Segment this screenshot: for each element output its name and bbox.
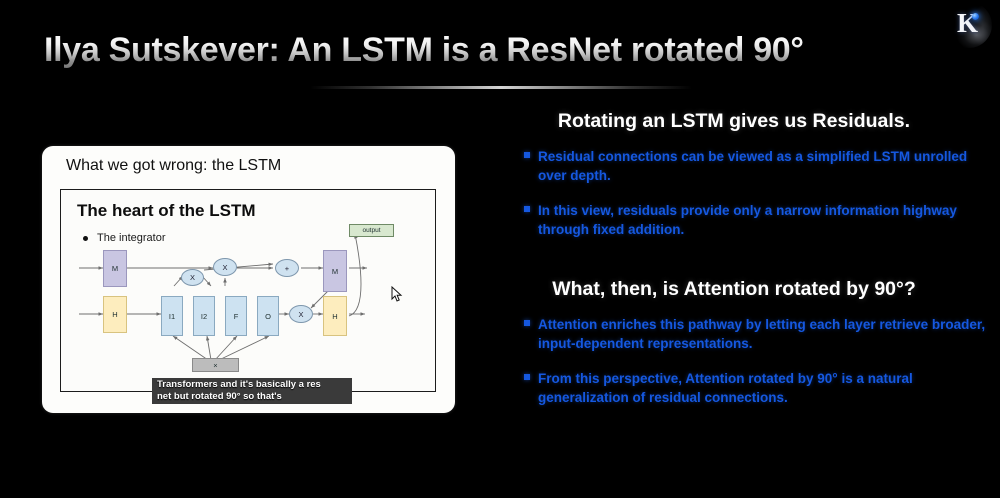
page-title: Ilya Sutskever: An LSTM is a ResNet rota… — [44, 31, 956, 70]
input-multiply-box: × — [192, 358, 239, 372]
video-caption: Transformers and it's basically a res ne… — [152, 378, 352, 404]
presentation-slide: K Ilya Sutskever: An LSTM is a ResNet ro… — [0, 0, 1000, 498]
bullet-item: From this perspective, Attention rotated… — [524, 369, 990, 407]
card-title: What we got wrong: the LSTM — [66, 157, 281, 175]
memory-in-box: M — [103, 250, 127, 287]
gate-box-o: O — [257, 296, 279, 336]
bullet-list-1: Residual connections can be viewed as a … — [478, 147, 990, 240]
section-heading-2: What, then, is Attention rotated by 90°? — [478, 278, 990, 301]
caption-line-1: Transformers and it's basically a res — [155, 379, 323, 391]
add-node: + — [275, 259, 299, 277]
mouse-cursor-icon — [391, 286, 403, 302]
multiply-node-3: X — [289, 305, 313, 323]
bullet-list-2: Attention enriches this pathway by letti… — [478, 315, 990, 408]
title-divider — [310, 86, 692, 89]
hidden-in-box: H — [103, 296, 127, 333]
multiply-node-1: X — [213, 258, 237, 276]
diagram-connectors — [61, 190, 437, 393]
output-box: output — [349, 224, 394, 237]
gate-box-i1: I1 — [161, 296, 183, 336]
caption-line-2: net but rotated 90° so that's — [155, 391, 284, 403]
lstm-slide-card: What we got wrong: the LSTM The heart of… — [42, 146, 455, 413]
gate-box-i2: I2 — [193, 296, 215, 336]
bullet-item: Residual connections can be viewed as a … — [524, 147, 990, 185]
multiply-node-2: X — [181, 269, 204, 286]
bullet-item: Attention enriches this pathway by letti… — [524, 315, 990, 353]
gate-box-f: F — [225, 296, 247, 336]
logo-blue-dot-icon — [972, 13, 979, 20]
bullet-item: In this view, residuals provide only a n… — [524, 201, 990, 239]
section-heading-1: Rotating an LSTM gives us Residuals. — [478, 110, 990, 133]
memory-out-box: M — [323, 250, 347, 292]
right-content-column: Rotating an LSTM gives us Residuals. Res… — [478, 110, 990, 423]
lstm-diagram-panel: The heart of the LSTM The integrator — [60, 189, 436, 392]
hidden-out-box: H — [323, 296, 347, 336]
